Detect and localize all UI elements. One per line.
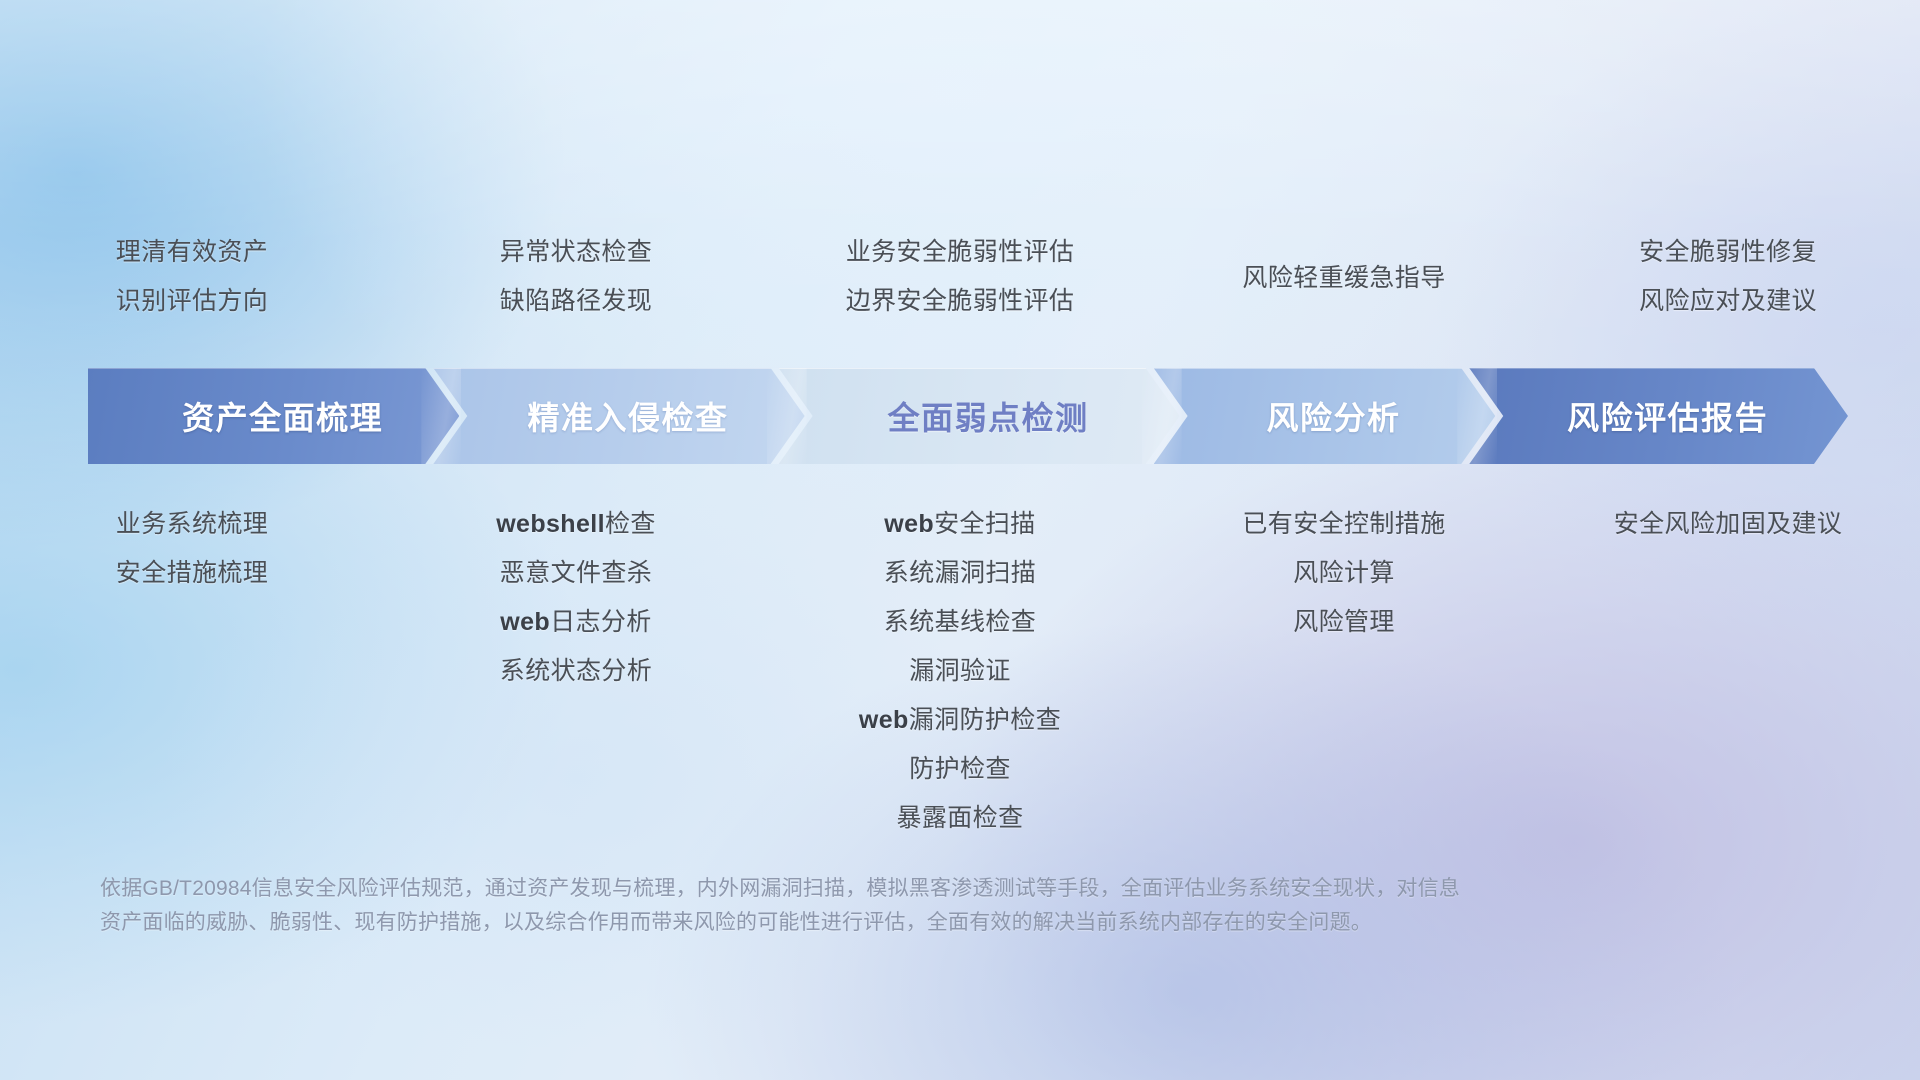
top-column-stage-3: 业务安全脆弱性评估 边界安全脆弱性评估: [768, 228, 1152, 338]
bottom-item: 漏洞验证: [909, 647, 1011, 696]
bottom-item-text: 系统漏洞扫描: [884, 559, 1036, 587]
top-item: 理清有效资产: [116, 228, 268, 277]
chevron-stage-3[interactable]: 全面弱点检测: [779, 368, 1180, 464]
top-column-stage-5: 安全脆弱性修复 风险应对及建议: [1536, 228, 1920, 338]
bottom-item-lead: web: [884, 510, 934, 538]
bottom-item: web安全扫描: [884, 500, 1035, 549]
chevron-stage-5[interactable]: 风险评估报告: [1469, 368, 1848, 464]
top-item: 缺陷路径发现: [500, 277, 652, 326]
bottom-column-stage-3: web安全扫描 系统漏洞扫描 系统基线检查 漏洞验证 web漏洞防护检查 防护检…: [768, 500, 1152, 843]
chevron-label: 资产全面梳理: [164, 393, 383, 439]
top-item: 异常状态检查: [500, 228, 652, 277]
bottom-column-stage-4: 已有安全控制措施 风险计算 风险管理: [1152, 500, 1536, 647]
chevron-label: 风险分析: [1248, 393, 1400, 439]
footer-line-1: 依据GB/T20984信息安全风险评估规范，通过资产发现与梳理，内外网漏洞扫描，…: [100, 872, 1640, 906]
top-item: 风险应对及建议: [1639, 277, 1817, 326]
bottom-item-text: 日志分析: [550, 608, 652, 636]
bottom-item-text: 漏洞验证: [909, 657, 1011, 685]
top-descriptor-row: 理清有效资产 识别评估方向 异常状态检查 缺陷路径发现 业务安全脆弱性评估 边界…: [0, 228, 1920, 338]
bottom-item-text: 恶意文件查杀: [500, 559, 652, 587]
bottom-item: 风险管理: [1293, 598, 1395, 647]
top-item: 识别评估方向: [116, 277, 268, 326]
bottom-item: 安全风险加固及建议: [1614, 500, 1843, 549]
chevron-label: 全面弱点检测: [870, 393, 1089, 439]
process-chevron-band: 资产全面梳理 精准入侵检查 全面弱点检测 风险分析 风险评估报告: [88, 368, 1848, 464]
bottom-column-stage-5: 安全风险加固及建议: [1536, 500, 1920, 549]
bottom-item: 系统基线检查: [884, 598, 1036, 647]
footer-line-2: 资产面临的威胁、脆弱性、现有防护措施，以及综合作用而带来风险的可能性进行评估，全…: [100, 906, 1640, 940]
bottom-item-text: 漏洞防护检查: [909, 706, 1061, 734]
bottom-descriptor-row: 业务系统梳理 安全措施梳理 webshell检查 恶意文件查杀 web日志分析 …: [0, 500, 1920, 840]
chevron-label: 风险评估报告: [1549, 393, 1768, 439]
top-column-stage-4: 风险轻重缓急指导: [1152, 228, 1536, 338]
top-column-stage-2: 异常状态检查 缺陷路径发现: [384, 228, 768, 338]
bottom-item-lead: webshell: [496, 510, 605, 538]
top-item: 风险轻重缓急指导: [1242, 254, 1445, 303]
bottom-item-lead: web: [500, 608, 550, 636]
bottom-item-text: 系统基线检查: [884, 608, 1036, 636]
bottom-item-text: 安全风险加固及建议: [1614, 510, 1843, 538]
bottom-item: 系统漏洞扫描: [884, 549, 1036, 598]
bottom-item-text: 安全措施梳理: [116, 559, 268, 587]
top-column-stage-1: 理清有效资产 识别评估方向: [0, 228, 384, 338]
bottom-column-stage-2: webshell检查 恶意文件查杀 web日志分析 系统状态分析: [384, 500, 768, 696]
top-item: 安全脆弱性修复: [1639, 228, 1817, 277]
bottom-column-stage-1: 业务系统梳理 安全措施梳理: [0, 500, 384, 598]
bottom-item: 安全措施梳理: [116, 549, 268, 598]
bottom-item-text: 安全扫描: [934, 510, 1036, 538]
bottom-item-text: 暴露面检查: [896, 804, 1023, 832]
bottom-item: 系统状态分析: [500, 647, 652, 696]
bottom-item-text: 防护检查: [909, 755, 1011, 783]
bottom-item: 风险计算: [1293, 549, 1395, 598]
bottom-item: 已有安全控制措施: [1242, 500, 1445, 549]
bottom-item: webshell检查: [496, 500, 656, 549]
bottom-item: 恶意文件查杀: [500, 549, 652, 598]
risk-assessment-flow-diagram: 理清有效资产 识别评估方向 异常状态检查 缺陷路径发现 业务安全脆弱性评估 边界…: [0, 0, 1920, 1080]
bottom-item-text: 已有安全控制措施: [1242, 510, 1445, 538]
bottom-item-lead: web: [859, 706, 909, 734]
bottom-item-text: 系统状态分析: [500, 657, 652, 685]
bottom-item: 防护检查: [909, 745, 1011, 794]
bottom-item: 暴露面检查: [896, 794, 1023, 843]
chevron-stage-4[interactable]: 风险分析: [1154, 368, 1496, 464]
bottom-item: web日志分析: [500, 598, 651, 647]
footer-description: 依据GB/T20984信息安全风险评估规范，通过资产发现与梳理，内外网漏洞扫描，…: [100, 872, 1640, 940]
chevron-stage-1[interactable]: 资产全面梳理: [88, 368, 459, 464]
bottom-item-text: 风险管理: [1293, 608, 1395, 636]
bottom-item: 业务系统梳理: [116, 500, 268, 549]
bottom-item-text: 业务系统梳理: [116, 510, 268, 538]
chevron-stage-2[interactable]: 精准入侵检查: [433, 368, 804, 464]
top-item: 业务安全脆弱性评估: [846, 228, 1075, 277]
chevron-label: 精准入侵检查: [509, 393, 728, 439]
bottom-item: web漏洞防护检查: [859, 696, 1061, 745]
bottom-item-text: 检查: [605, 510, 656, 538]
top-item: 边界安全脆弱性评估: [846, 277, 1075, 326]
bottom-item-text: 风险计算: [1293, 559, 1395, 587]
